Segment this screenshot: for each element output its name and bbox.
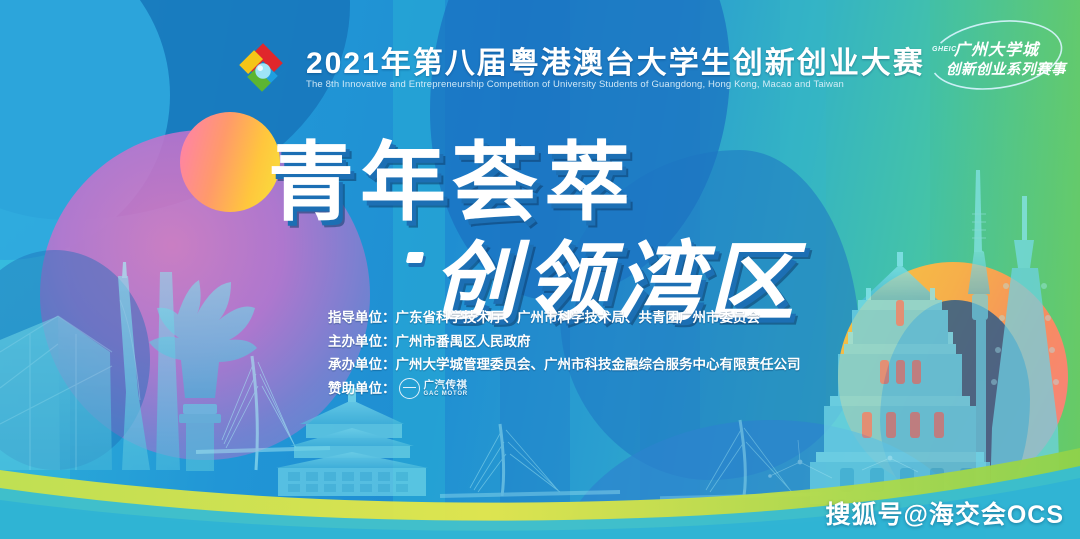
organizer-list: 指导单位：广东省科学技术厅、广州市科学技术局、共青团广州市委员会 主办单位：广州… [328, 306, 801, 400]
competition-poster: 2021年第八届粤港澳台大学生创新创业大赛 The 8th Innovative… [0, 0, 1080, 539]
canton-tower [118, 262, 150, 470]
page-subtitle-en: The 8th Innovative and Entrepreneurship … [306, 79, 844, 90]
competition-diamond-logo [228, 36, 298, 106]
taipei-101 [990, 196, 1060, 500]
watermark: 搜狐号@海交会OCS [825, 495, 1064, 531]
gac-motor-logo: 广汽传祺 GAC MOTOR [399, 378, 468, 399]
organizer-row-guidance: 指导单位：广东省科学技术厅、广州市科学技术局、共青团广州市委员会 [328, 306, 801, 330]
page-title: 2021年第八届粤港澳台大学生创新创业大赛 [306, 38, 925, 82]
badge-line-2: 创新创业系列赛事 [946, 58, 1066, 79]
gac-ring-icon [399, 378, 420, 399]
guangzhou-opera-house [0, 316, 112, 470]
status-badge: GHEIC 广州大学城 创新创业系列赛事 [922, 16, 1070, 94]
sponsor-brand-cn: 广汽传祺 [424, 380, 468, 391]
organizer-row-undertaker: 承办单位：广州大学城管理委员会、广州市科技金融综合服务中心有限责任公司 [328, 353, 801, 377]
ruins-of-st-pauls-macau [810, 252, 990, 504]
sponsor-label: 赞助单位： [328, 377, 396, 401]
guangzhou-memorial-hall [276, 388, 428, 496]
cable-stayed-bridge-centre [440, 424, 620, 496]
organizer-row-host: 主办单位：广州市番禺区人民政府 [328, 330, 801, 354]
badge-gheic-mark: GHEIC [932, 46, 957, 53]
secondary-tower-left [156, 272, 180, 470]
headline-accent-dash [406, 252, 424, 263]
sponsor-row: 赞助单位： 广汽传祺 GAC MOTOR [328, 377, 801, 401]
badge-line-1: 广州大学城 [954, 36, 1039, 60]
sponsor-brand-en: GAC MOTOR [424, 391, 468, 397]
poster-header: 2021年第八届粤港澳台大学生创新创业大赛 The 8th Innovative… [0, 0, 1080, 112]
cable-stayed-bridge-right [660, 420, 830, 498]
